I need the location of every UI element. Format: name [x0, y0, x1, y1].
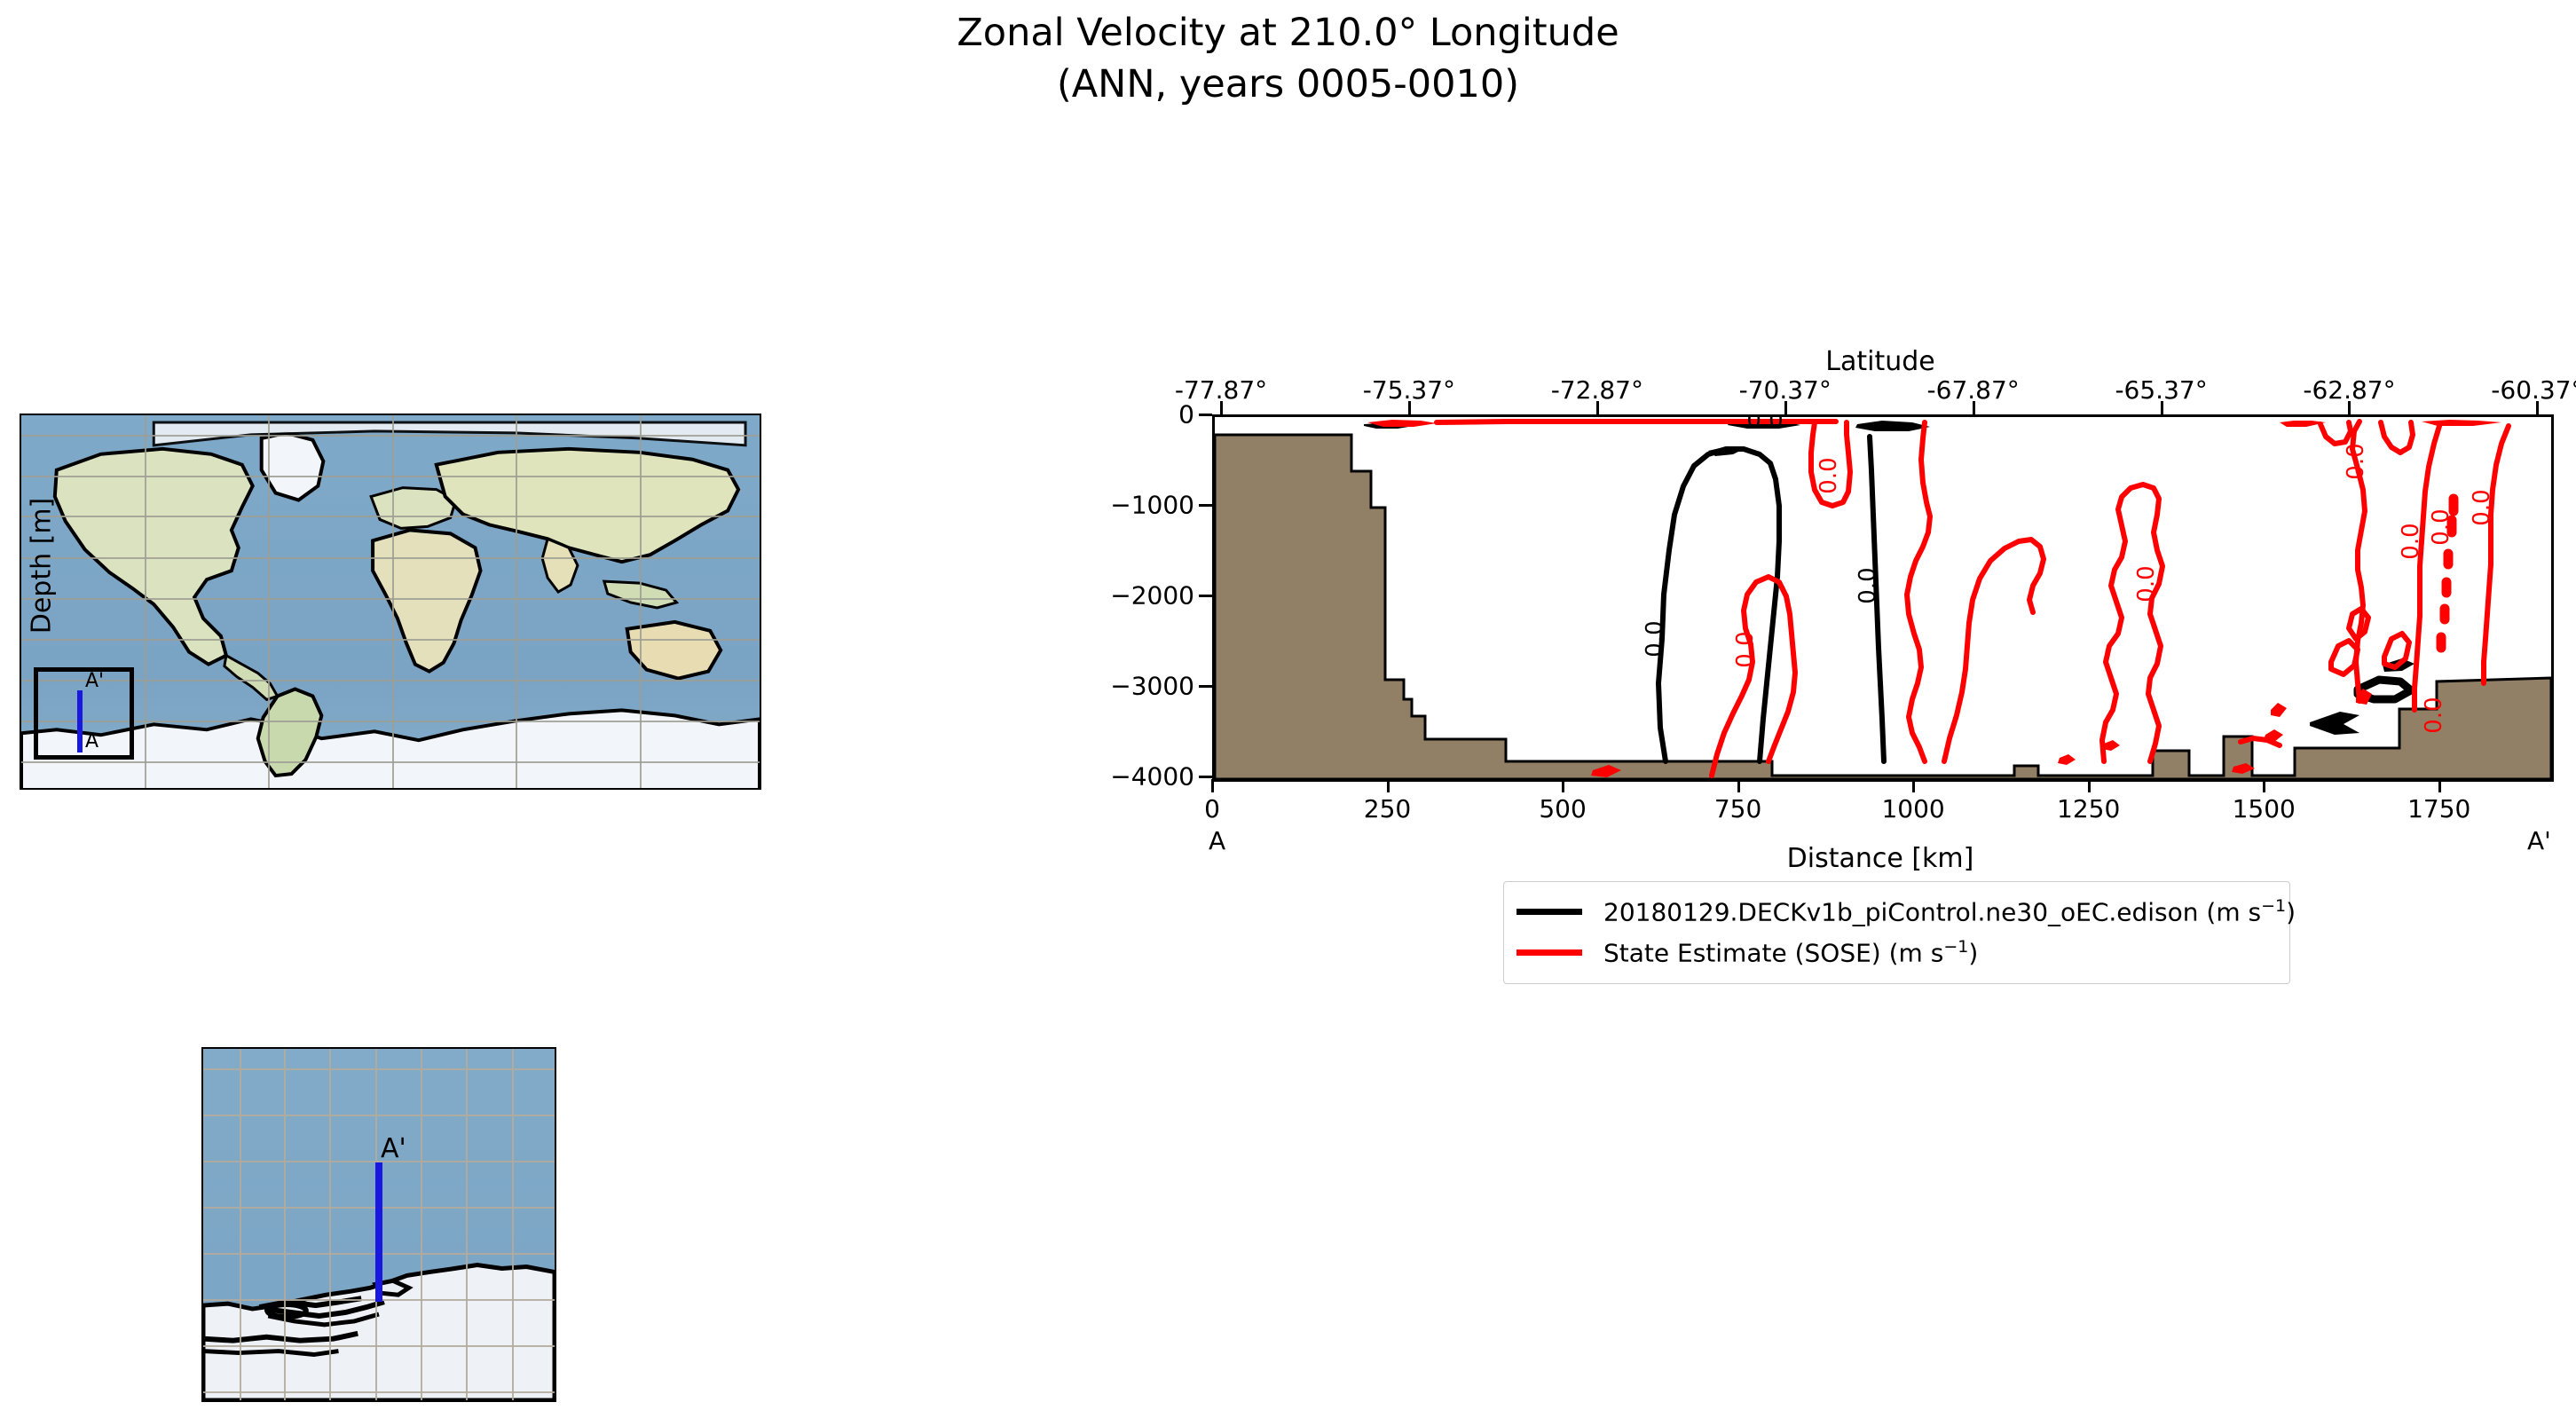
zoom-map-inset: A'	[201, 1047, 556, 1402]
latitude-tick-mark	[1220, 401, 1223, 414]
latitude-axis-title: Latitude	[1212, 346, 2548, 377]
depth-tick-label: −2000	[1044, 581, 1194, 611]
title-line-primary: Zonal Velocity at 210.0° Longitude	[0, 7, 2576, 59]
contour-label: 0.0	[1855, 567, 1881, 603]
depth-tick-label: −3000	[1044, 672, 1194, 701]
latitude-tick-mark	[1596, 401, 1599, 414]
map-gridline	[284, 1049, 286, 1400]
cross-section-graphic: 0.0 0.0 0.0 0.0 0.0 0.0 0.0 0.0 0.0 0.0 …	[1215, 417, 2551, 779]
map-gridline	[203, 1391, 555, 1393]
transect-line	[375, 1162, 382, 1302]
legend-units-exponent: −1	[1943, 937, 1968, 957]
latitude-tick-label: -60.37°	[2491, 375, 2576, 405]
transect-end-label: A'	[381, 1133, 406, 1164]
distance-tick-mark	[2438, 779, 2441, 792]
transect-end-label: A'	[85, 670, 104, 692]
contour-label: 0.0	[2398, 523, 2424, 559]
latitude-tick-mark	[1973, 401, 1975, 414]
cross-section-plot: 0.0 0.0 0.0 0.0 0.0 0.0 0.0 0.0 0.0 0.0 …	[1212, 414, 2554, 782]
contour-label: 0.0	[1642, 620, 1668, 657]
distance-tick-label: 1500	[2233, 794, 2296, 823]
contour-label: 0.0	[1746, 417, 1783, 434]
title-line-secondary: (ANN, years 0005-0010)	[0, 59, 2576, 110]
contour-label: 0.0	[2343, 443, 2369, 479]
depth-tick-label: −4000	[1044, 762, 1194, 792]
map-gridline	[421, 1049, 422, 1400]
depth-tick-label: −1000	[1044, 491, 1194, 520]
map-gridline	[640, 415, 642, 788]
depth-tick-mark	[1199, 685, 1212, 688]
distance-tick-label: 750	[1714, 794, 1761, 823]
contour-label: 0.0	[2469, 489, 2495, 525]
map-gridline	[21, 516, 760, 517]
contour-label: 0.0	[1816, 457, 1842, 493]
depth-tick-mark	[1199, 595, 1212, 597]
legend-color-swatch	[1516, 909, 1582, 915]
legend-entry[interactable]: 20180129.DECKv1b_piControl.ne30_oEC.edis…	[1516, 891, 2277, 932]
latitude-tick-mark	[2161, 401, 2163, 414]
distance-tick-mark	[1912, 779, 1915, 792]
map-gridline	[516, 415, 517, 788]
legend-entry[interactable]: State Estimate (SOSE) (m s−1)	[1516, 932, 2277, 973]
distance-tick-mark	[1387, 779, 1390, 792]
map-gridline	[329, 1049, 331, 1400]
map-gridline	[203, 1115, 555, 1116]
contour-label: 0.0	[2428, 508, 2454, 545]
distance-tick-label: 250	[1364, 794, 1411, 823]
legend-color-swatch	[1516, 949, 1582, 956]
latitude-tick-mark	[1784, 401, 1787, 414]
contour-label: 0.0	[2133, 565, 2160, 602]
distance-tick-label: 1750	[2407, 794, 2470, 823]
depth-tick-mark	[1199, 776, 1212, 778]
world-map-inset: A' A	[20, 414, 761, 790]
transect-line	[77, 690, 83, 752]
transect-start-endpoint-label: A	[1209, 826, 1225, 855]
map-gridline	[512, 1049, 514, 1400]
latitude-tick-mark	[2348, 401, 2351, 414]
map-gridline	[240, 1049, 241, 1400]
distance-tick-label: 500	[1539, 794, 1586, 823]
transect-end-endpoint-label: A'	[2527, 826, 2551, 855]
distance-tick-mark	[1737, 779, 1740, 792]
map-gridline	[21, 557, 760, 559]
distance-tick-label: 1250	[2057, 794, 2120, 823]
legend-entry-label: 20180129.DECKv1b_piControl.ne30_oEC.edis…	[1603, 896, 2296, 926]
distance-tick-label: 0	[1204, 794, 1220, 823]
page-title: Zonal Velocity at 210.0° Longitude (ANN,…	[0, 7, 2576, 110]
distance-axis-title: Distance [km]	[1212, 843, 2548, 874]
latitude-tick-mark	[2536, 401, 2539, 414]
map-gridline	[21, 761, 760, 763]
map-gridline	[268, 415, 270, 788]
map-gridline	[21, 435, 760, 437]
map-gridline	[145, 415, 146, 788]
legend-units-exponent: −1	[2261, 896, 2286, 916]
map-gridline	[466, 1049, 468, 1400]
depth-tick-label: 0	[1044, 400, 1194, 429]
distance-tick-mark	[2263, 779, 2265, 792]
contour-label: 0.0	[2421, 697, 2447, 733]
distance-tick-mark	[2088, 779, 2091, 792]
depth-tick-mark	[1199, 504, 1212, 507]
chart-legend: 20180129.DECKv1b_piControl.ne30_oEC.edis…	[1503, 881, 2290, 984]
map-gridline	[392, 415, 394, 788]
depth-axis-title: Depth [m]	[27, 442, 58, 690]
distance-tick-mark	[1211, 779, 1214, 792]
model-contours	[1364, 420, 2415, 761]
map-gridline	[203, 1068, 555, 1070]
map-gridline	[203, 1345, 555, 1347]
contour-label: 0.0	[1732, 631, 1759, 667]
legend-entry-label: State Estimate (SOSE) (m s−1)	[1603, 937, 1978, 967]
latitude-tick-mark	[1408, 401, 1411, 414]
map-gridline	[21, 598, 760, 600]
map-gridline	[21, 639, 760, 641]
map-gridline	[21, 476, 760, 477]
distance-tick-mark	[1562, 779, 1564, 792]
distance-tick-label: 1000	[1881, 794, 1944, 823]
depth-tick-mark	[1199, 414, 1212, 416]
transect-start-label: A	[85, 730, 98, 752]
